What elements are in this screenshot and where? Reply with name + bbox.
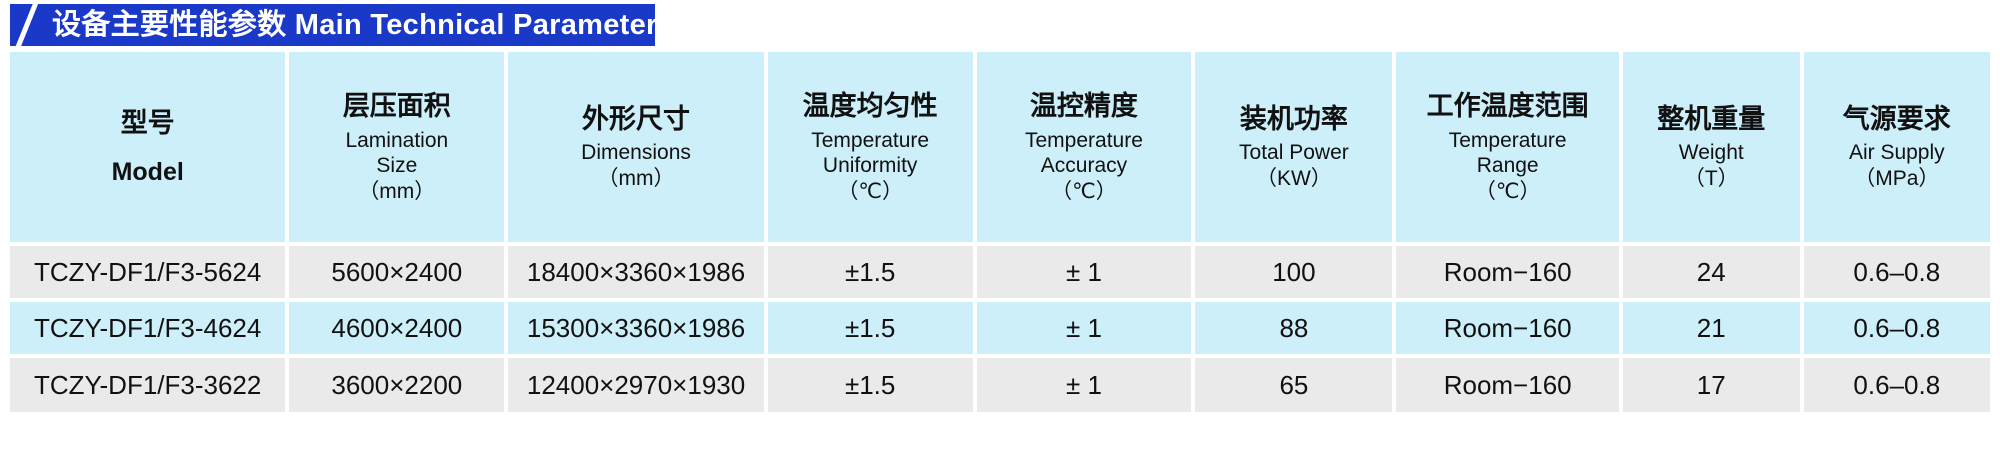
cell-model: TCZY-DF1/F3-4624 xyxy=(10,300,287,356)
col-header-unit: （℃） xyxy=(1398,179,1617,205)
cell-dimensions: 18400×3360×1986 xyxy=(506,244,766,300)
col-header-en: Model xyxy=(12,157,283,188)
col-header-en-line2: Accuracy xyxy=(979,153,1190,179)
col-header-en-line2: Range xyxy=(1398,153,1617,179)
cell-temperature-uniformity: ±1.5 xyxy=(766,300,975,356)
cell-total-power: 65 xyxy=(1193,356,1394,412)
col-header-weight: 整机重量 Weight （T） xyxy=(1621,52,1802,244)
spec-sheet-page: 设备主要性能参数 Main Technical Parameters 型号 Mo… xyxy=(0,0,2000,452)
table-header-row: 型号 Model 层压面积 Lamination Size （mm） 外形尺寸 … xyxy=(10,52,1990,244)
col-header-en: Air Supply xyxy=(1806,140,1988,166)
cell-weight: 17 xyxy=(1621,356,1802,412)
col-header-cn: 整机重量 xyxy=(1625,102,1798,137)
cell-model: TCZY-DF1/F3-3622 xyxy=(10,356,287,412)
cell-weight: 21 xyxy=(1621,300,1802,356)
cell-temperature-range: Room−160 xyxy=(1394,356,1621,412)
col-header-cn: 层压面积 xyxy=(291,89,502,124)
col-header-cn: 温控精度 xyxy=(979,89,1190,124)
col-header-temperature-accuracy: 温控精度 Temperature Accuracy （℃） xyxy=(975,52,1194,244)
cell-model: TCZY-DF1/F3-5624 xyxy=(10,244,287,300)
col-header-temperature-uniformity: 温度均匀性 Temperature Uniformity （℃） xyxy=(766,52,975,244)
col-header-unit: （℃） xyxy=(770,179,971,205)
col-header-cn: 气源要求 xyxy=(1806,102,1988,137)
section-title-banner: 设备主要性能参数 Main Technical Parameters xyxy=(10,4,655,46)
header-spacer xyxy=(12,145,283,157)
cell-temperature-accuracy: ± 1 xyxy=(975,300,1194,356)
col-header-en: Temperature xyxy=(979,128,1190,154)
col-header-unit: （mm） xyxy=(291,179,502,205)
col-header-temperature-range: 工作温度范围 Temperature Range （℃） xyxy=(1394,52,1621,244)
table-row: TCZY-DF1/F3-5624 5600×2400 18400×3360×19… xyxy=(10,244,1990,300)
cell-weight: 24 xyxy=(1621,244,1802,300)
cell-temperature-range: Room−160 xyxy=(1394,244,1621,300)
col-header-cn: 外形尺寸 xyxy=(510,102,762,137)
col-header-en: Total Power xyxy=(1197,140,1390,166)
col-header-unit: （KW） xyxy=(1197,166,1390,192)
col-header-cn: 温度均匀性 xyxy=(770,89,971,124)
col-header-en: Temperature xyxy=(1398,128,1617,154)
cell-lamination-size: 4600×2400 xyxy=(287,300,506,356)
col-header-en: Weight xyxy=(1625,140,1798,166)
diagonal-slash-icon xyxy=(10,4,52,46)
cell-air-supply: 0.6–0.8 xyxy=(1802,244,1990,300)
col-header-lamination-size: 层压面积 Lamination Size （mm） xyxy=(287,52,506,244)
table-row: TCZY-DF1/F3-3622 3600×2200 12400×2970×19… xyxy=(10,356,1990,412)
col-header-unit: （mm） xyxy=(510,166,762,192)
cell-total-power: 88 xyxy=(1193,300,1394,356)
cell-air-supply: 0.6–0.8 xyxy=(1802,300,1990,356)
col-header-total-power: 装机功率 Total Power （KW） xyxy=(1193,52,1394,244)
cell-temperature-uniformity: ±1.5 xyxy=(766,356,975,412)
col-header-air-supply: 气源要求 Air Supply （MPa） xyxy=(1802,52,1990,244)
cell-dimensions: 15300×3360×1986 xyxy=(506,300,766,356)
table-body: TCZY-DF1/F3-5624 5600×2400 18400×3360×19… xyxy=(10,244,1990,412)
col-header-en: Temperature xyxy=(770,128,971,154)
col-header-unit: （MPa） xyxy=(1806,166,1988,192)
col-header-unit: （℃） xyxy=(979,179,1190,205)
col-header-en-line2: Uniformity xyxy=(770,153,971,179)
cell-total-power: 100 xyxy=(1193,244,1394,300)
cell-temperature-accuracy: ± 1 xyxy=(975,244,1194,300)
col-header-en: Dimensions xyxy=(510,140,762,166)
cell-temperature-range: Room−160 xyxy=(1394,300,1621,356)
section-title-text: 设备主要性能参数 Main Technical Parameters xyxy=(52,4,655,46)
col-header-cn: 工作温度范围 xyxy=(1398,89,1617,124)
col-header-model: 型号 Model xyxy=(10,52,287,244)
col-header-cn: 装机功率 xyxy=(1197,102,1390,137)
cell-lamination-size: 5600×2400 xyxy=(287,244,506,300)
cell-temperature-accuracy: ± 1 xyxy=(975,356,1194,412)
col-header-en-line2: Size xyxy=(291,153,502,179)
cell-air-supply: 0.6–0.8 xyxy=(1802,356,1990,412)
cell-lamination-size: 3600×2200 xyxy=(287,356,506,412)
col-header-en: Lamination xyxy=(291,128,502,154)
cell-temperature-uniformity: ±1.5 xyxy=(766,244,975,300)
col-header-dimensions: 外形尺寸 Dimensions （mm） xyxy=(506,52,766,244)
col-header-unit: （T） xyxy=(1625,166,1798,192)
table-row: TCZY-DF1/F3-4624 4600×2400 15300×3360×19… xyxy=(10,300,1990,356)
cell-dimensions: 12400×2970×1930 xyxy=(506,356,766,412)
col-header-cn: 型号 xyxy=(12,106,283,141)
technical-parameters-table: 型号 Model 层压面积 Lamination Size （mm） 外形尺寸 … xyxy=(10,52,1990,412)
